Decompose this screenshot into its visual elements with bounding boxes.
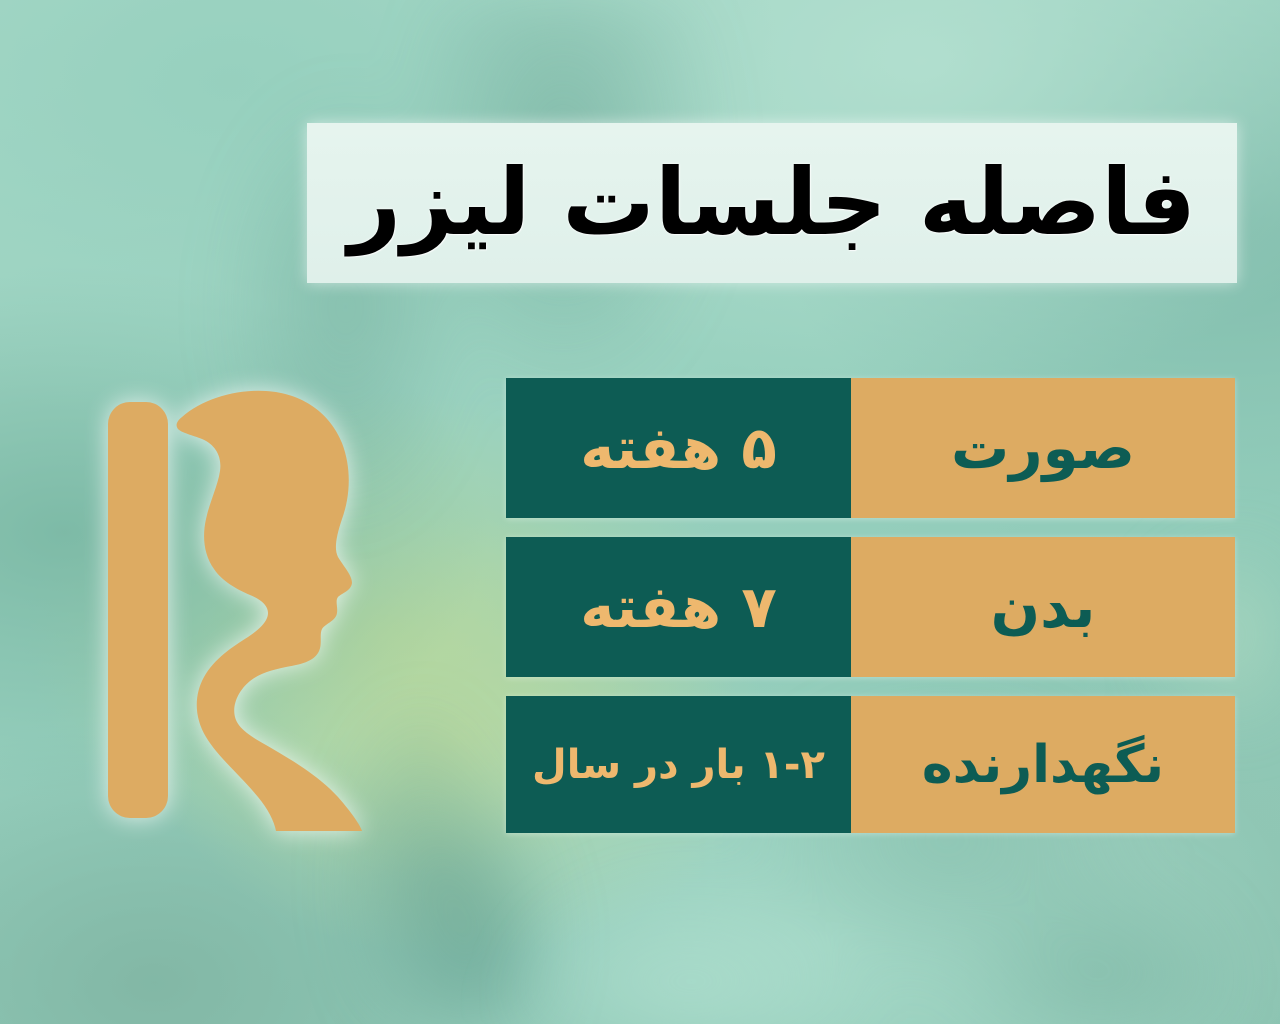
- row-label-maintenance: نگهدارنده: [851, 696, 1235, 833]
- woman-profile-r-icon: [90, 385, 400, 835]
- page-title: فاصله جلسات لیزر: [348, 155, 1196, 252]
- row-value-maintenance: ۱-۲ بار در سال: [506, 696, 851, 833]
- row-value-face: ۵ هفته: [506, 378, 851, 518]
- row-label-body: بدن: [851, 537, 1235, 677]
- table-row: صورت ۵ هفته: [506, 378, 1235, 518]
- row-value-body: ۷ هفته: [506, 537, 851, 677]
- table-row: بدن ۷ هفته: [506, 537, 1235, 677]
- sessions-table: صورت ۵ هفته بدن ۷ هفته نگهدارنده ۱-۲ بار…: [506, 378, 1235, 833]
- row-label-face: صورت: [851, 378, 1235, 518]
- poster-canvas: فاصله جلسات لیزر صورت ۵ هفته بدن ۷ هفته …: [0, 0, 1280, 1024]
- brand-logo: [90, 385, 400, 835]
- title-banner: فاصله جلسات لیزر: [307, 123, 1237, 283]
- table-row: نگهدارنده ۱-۲ بار در سال: [506, 696, 1235, 833]
